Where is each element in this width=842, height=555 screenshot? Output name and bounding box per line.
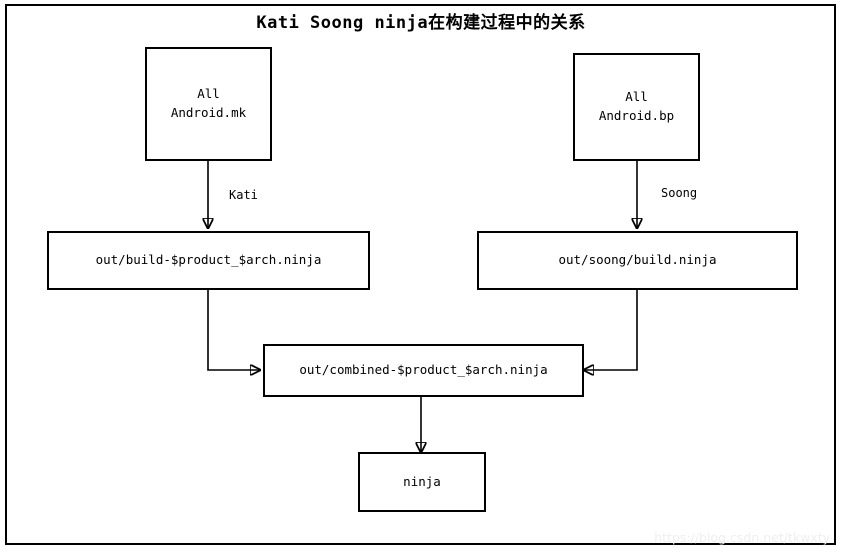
edge-label-soong: Soong (661, 186, 697, 200)
node-ninja-label: ninja (403, 473, 441, 492)
node-android-bp[interactable]: All Android.bp (573, 53, 700, 161)
node-android-mk-line1: All (197, 85, 220, 104)
node-combined-ninja[interactable]: out/combined-$product_$arch.ninja (263, 344, 584, 397)
node-soong-ninja[interactable]: out/soong/build.ninja (477, 231, 798, 290)
node-android-bp-line1: All (625, 88, 648, 107)
node-kati-ninja[interactable]: out/build-$product_$arch.ninja (47, 231, 370, 290)
node-android-bp-line2: Android.bp (599, 107, 674, 126)
node-combined-ninja-label: out/combined-$product_$arch.ninja (299, 361, 547, 380)
diagram-title: Kati Soong ninja在构建过程中的关系 (0, 8, 842, 33)
node-ninja[interactable]: ninja (358, 452, 486, 512)
node-android-mk-line2: Android.mk (171, 104, 246, 123)
edge-label-kati: Kati (229, 188, 258, 202)
diagram-canvas: Kati Soong ninja在构建过程中的关系 All Android.mk… (0, 0, 842, 555)
node-kati-ninja-label: out/build-$product_$arch.ninja (96, 251, 322, 270)
watermark-text: https://blog.csdn.net/tkwxty (654, 530, 830, 545)
node-soong-ninja-label: out/soong/build.ninja (558, 251, 716, 270)
node-android-mk[interactable]: All Android.mk (145, 47, 272, 161)
